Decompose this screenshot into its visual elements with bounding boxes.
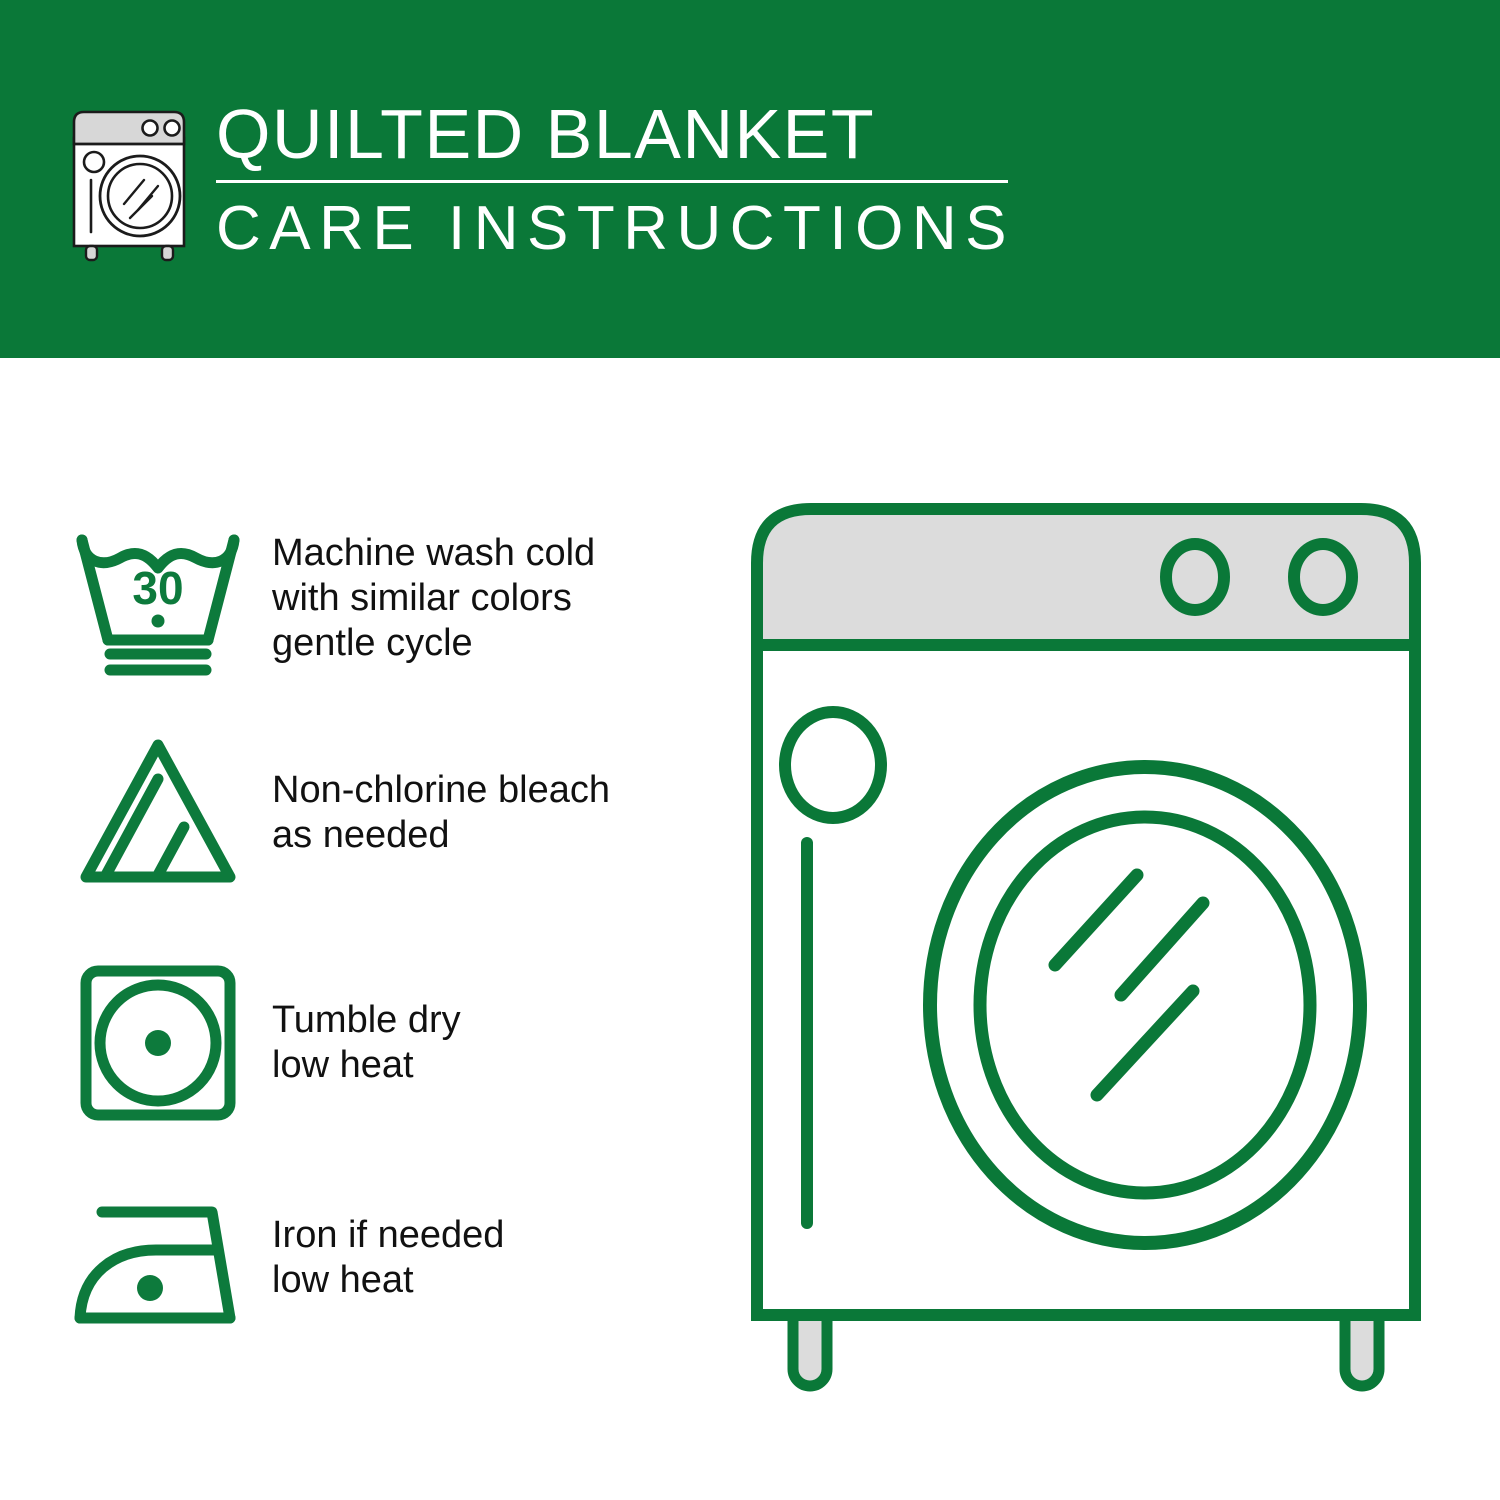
washing-machine-illustration bbox=[745, 495, 1445, 1415]
care-item-iron: Iron if needed low heat bbox=[72, 1173, 732, 1343]
page-subtitle: CARE INSTRUCTIONS bbox=[216, 196, 1016, 262]
care-item-tumble-dry: Tumble dry low heat bbox=[72, 958, 732, 1128]
iron-low-heat-icon bbox=[72, 1178, 244, 1338]
care-item-bleach: Non-chlorine bleach as needed bbox=[72, 728, 732, 898]
care-item-label: Tumble dry low heat bbox=[272, 998, 461, 1088]
care-item-machine-wash: 30 Machine wash cold with similar colors… bbox=[72, 513, 732, 683]
title-divider bbox=[216, 180, 1008, 183]
wash-tub-30-icon: 30 bbox=[72, 518, 244, 678]
care-item-label: Iron if needed low heat bbox=[272, 1213, 504, 1303]
care-item-label: Machine wash cold with similar colors ge… bbox=[272, 531, 595, 666]
bleach-triangle-icon bbox=[72, 733, 244, 893]
care-item-label: Non-chlorine bleach as needed bbox=[272, 768, 610, 858]
care-instruction-list: 30 Machine wash cold with similar colors… bbox=[0, 358, 740, 1500]
header-title-block: QUILTED BLANKET CARE INSTRUCTIONS bbox=[216, 96, 1016, 262]
washing-machine-icon bbox=[62, 104, 202, 264]
page-title: QUILTED BLANKET bbox=[216, 96, 1016, 172]
header-banner: QUILTED BLANKET CARE INSTRUCTIONS bbox=[0, 0, 1500, 358]
wash-temperature-value: 30 bbox=[132, 562, 183, 614]
tumble-dry-low-icon bbox=[72, 963, 244, 1123]
